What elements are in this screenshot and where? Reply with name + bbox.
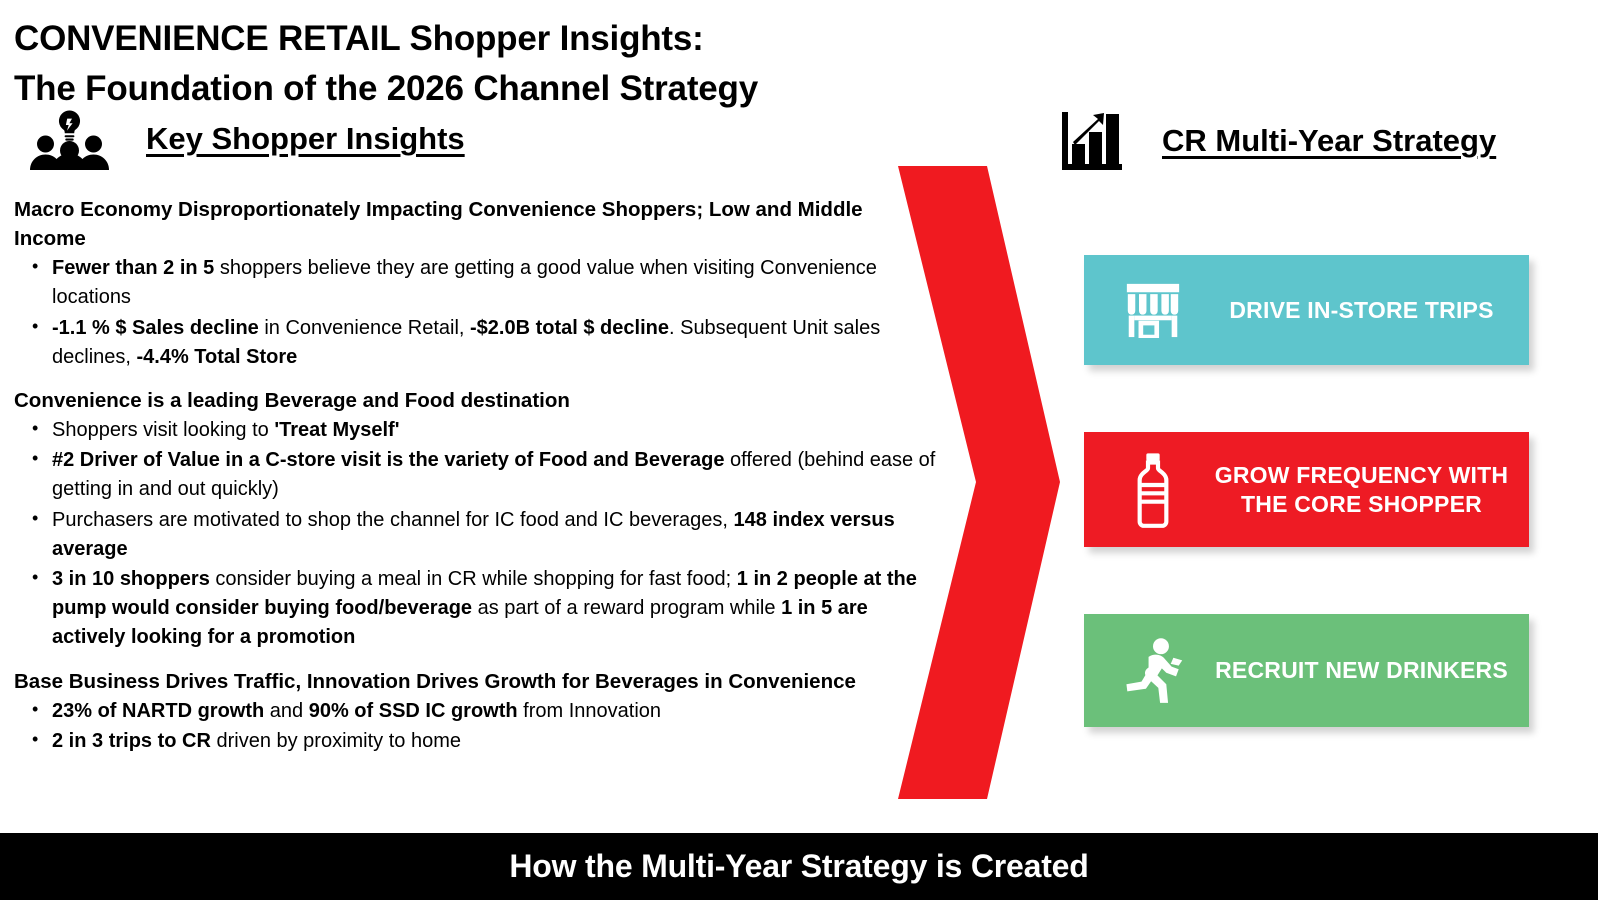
list-item: #2 Driver of Value in a C-store visit is… [14,446,939,504]
strategy-pillar-drive-in-store-trips[interactable]: DRIVE IN-STORE TRIPS [1084,255,1529,365]
insight-section-1: Convenience is a leading Beverage and Fo… [14,386,939,653]
title-line-2: The Foundation of the 2026 Channel Strat… [14,64,1014,114]
bar-chart-growth-icon [1060,112,1122,170]
slide-canvas: CONVENIENCE RETAIL Shopper Insights: The… [0,0,1598,900]
strategy-pillar-grow-frequency[interactable]: GROW FREQUENCY WITH THE CORE SHOPPER [1084,432,1529,547]
left-heading-label: Key Shopper Insights [146,121,465,157]
pillar-label: RECRUIT NEW DRINKERS [1210,656,1529,685]
list-item: 2 in 3 trips to CR driven by proximity t… [14,727,939,756]
list-item: Fewer than 2 in 5 shoppers believe they … [14,254,939,312]
pillar-label: GROW FREQUENCY WITH THE CORE SHOPPER [1210,461,1529,519]
running-person-icon [1110,637,1196,705]
list-item: -1.1 % $ Sales decline in Convenience Re… [14,314,939,372]
key-shopper-insights-heading: Key Shopper Insights [28,108,465,170]
right-heading-label: CR Multi-Year Strategy [1162,123,1496,159]
section-heading: Convenience is a leading Beverage and Fo… [14,386,939,415]
banner-label: How the Multi-Year Strategy is Created [509,848,1088,885]
strategy-pillar-recruit-new-drinkers[interactable]: RECRUIT NEW DRINKERS [1084,614,1529,727]
insight-section-2: Base Business Drives Traffic, Innovation… [14,667,939,756]
people-lightbulb-icon [28,108,124,170]
bullet-rich-text: Purchasers are motivated to shop the cha… [52,509,895,560]
section-bullet-list: Shoppers visit looking to 'Treat Myself'… [14,416,939,653]
chevron-shape [898,166,1060,799]
page-title: CONVENIENCE RETAIL Shopper Insights: The… [14,14,1014,113]
key-shopper-insights-content: Macro Economy Disproportionately Impacti… [14,195,939,757]
section-bullet-list: 23% of NARTD growth and 90% of SSD IC gr… [14,697,939,756]
title-line-1: CONVENIENCE RETAIL Shopper Insights: [14,14,1014,64]
bullet-rich-text: 2 in 3 trips to CR driven by proximity t… [52,730,461,752]
bottom-banner: How the Multi-Year Strategy is Created [0,833,1598,900]
bullet-rich-text: #2 Driver of Value in a C-store visit is… [52,449,935,500]
storefront-icon [1110,282,1196,338]
list-item: Purchasers are motivated to shop the cha… [14,506,939,564]
section-bullet-list: Fewer than 2 in 5 shoppers believe they … [14,254,939,372]
section-heading: Macro Economy Disproportionately Impacti… [14,195,939,253]
list-item: 23% of NARTD growth and 90% of SSD IC gr… [14,697,939,726]
cr-multi-year-strategy-heading: CR Multi-Year Strategy [1060,110,1496,172]
red-chevron-arrow [880,160,1065,805]
bullet-rich-text: -1.1 % $ Sales decline in Convenience Re… [52,317,880,368]
bullet-rich-text: Shoppers visit looking to 'Treat Myself' [52,419,399,441]
bullet-rich-text: 23% of NARTD growth and 90% of SSD IC gr… [52,700,661,722]
list-item: 3 in 10 shoppers consider buying a meal … [14,565,939,653]
bullet-rich-text: Fewer than 2 in 5 shoppers believe they … [52,257,877,308]
section-heading: Base Business Drives Traffic, Innovation… [14,667,939,696]
bullet-rich-text: 3 in 10 shoppers consider buying a meal … [52,568,917,648]
list-item: Shoppers visit looking to 'Treat Myself' [14,416,939,445]
insight-section-0: Macro Economy Disproportionately Impacti… [14,195,939,372]
pillar-label: DRIVE IN-STORE TRIPS [1210,296,1529,325]
water-bottle-icon [1110,451,1196,529]
